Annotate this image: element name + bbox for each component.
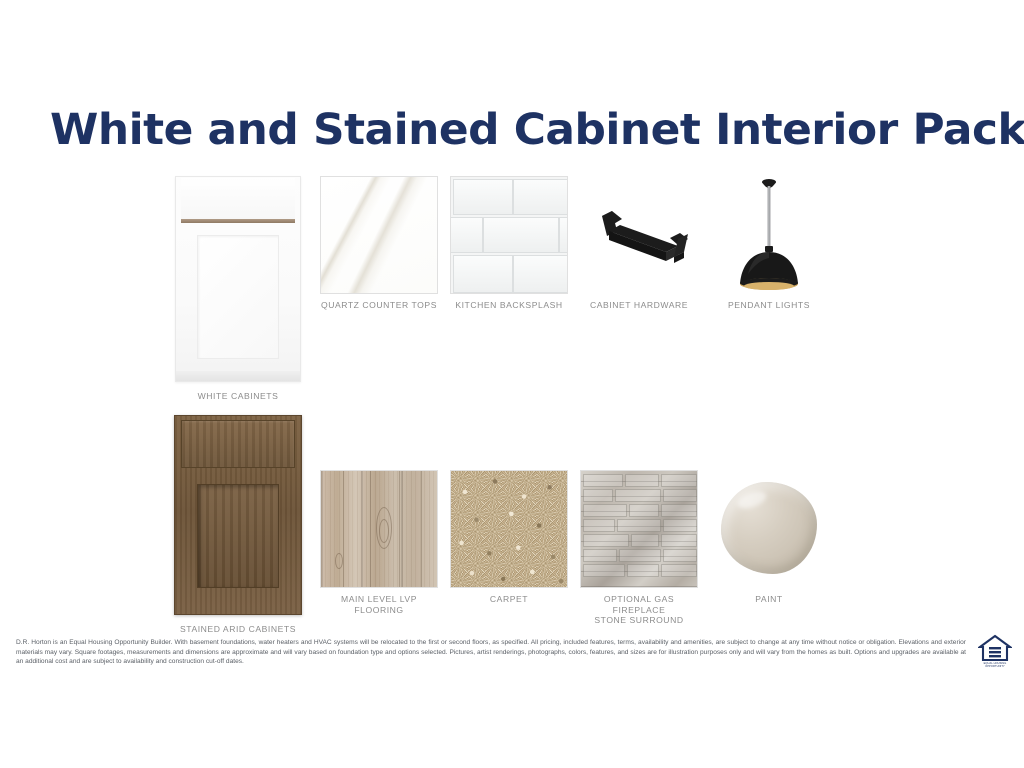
cabinet-base xyxy=(176,371,300,381)
cabinet-hardware-swatch xyxy=(580,176,698,294)
white-cabinets-label: WHITE CABINETS xyxy=(170,391,306,402)
page-title: White and Stained Cabinet Interior Packa… xyxy=(50,104,988,156)
swatch-cell-main-level-lvp-flooring: MAIN LEVEL LVP FLOORING xyxy=(320,470,438,615)
swatch-cell-paint: PAINT xyxy=(710,470,828,605)
main-level-lvp-flooring-swatch xyxy=(320,470,438,588)
swatch-cell-cabinet-hardware: CABINET HARDWARE xyxy=(580,176,698,311)
equal-housing-house-icon xyxy=(978,634,1012,662)
stained-cabinet-recessed-panel xyxy=(197,484,279,588)
paint-blob-icon xyxy=(721,482,817,574)
swatch-cell-stone-surround: OPTIONAL GAS FIREPLACE STONE SURROUND xyxy=(580,470,698,626)
swatch-cell-carpet: CARPET xyxy=(450,470,568,605)
carpet-swatch xyxy=(450,470,568,588)
cabinet-top-rail xyxy=(181,178,295,219)
cabinet-drawer-pull-line xyxy=(181,219,295,223)
paint-swatch xyxy=(710,470,828,588)
legal-disclaimer: D.R. Horton is an Equal Housing Opportun… xyxy=(16,638,966,667)
stone-surround-label-line1: OPTIONAL GAS FIREPLACE xyxy=(580,594,698,615)
quartz-counter-tops-label: QUARTZ COUNTER TOPS xyxy=(320,300,438,311)
stained-cabinet-swatch xyxy=(174,415,302,615)
pendant-light-icon xyxy=(710,176,828,294)
cabinet-hardware-label: CABINET HARDWARE xyxy=(580,300,698,311)
swatch-cell-kitchen-backsplash: KITCHEN BACKSPLASH xyxy=(450,176,568,311)
equal-housing-opportunity-logo: EQUAL HOUSING OPPORTUNITY xyxy=(978,634,1012,670)
stained-arid-cabinets-label: STAINED ARID CABINETS xyxy=(170,624,306,635)
quartz-counter-tops-swatch xyxy=(320,176,438,294)
stained-cabinet-drawer xyxy=(181,420,295,468)
stone-surround-label-line2: STONE SURROUND xyxy=(580,615,698,626)
bar-pull-icon xyxy=(580,176,698,294)
main-level-lvp-flooring-label: MAIN LEVEL LVP FLOORING xyxy=(320,594,438,615)
swatch-cell-pendant-lights: PENDANT LIGHTS xyxy=(710,176,828,311)
optional-gas-fireplace-stone-surround-swatch xyxy=(580,470,698,588)
pendant-lights-swatch xyxy=(710,176,828,294)
paint-label: PAINT xyxy=(710,594,828,605)
carpet-label: CARPET xyxy=(450,594,568,605)
selection-row-2: MAIN LEVEL LVP FLOORING CARPET xyxy=(320,470,830,620)
eho-logo-text-line2: OPPORTUNITY xyxy=(978,665,1012,668)
swatch-cell-quartz-counter-tops: QUARTZ COUNTER TOPS xyxy=(320,176,438,311)
interior-package-flyer: White and Stained Cabinet Interior Packa… xyxy=(0,0,1024,768)
kitchen-backsplash-swatch xyxy=(450,176,568,294)
white-cabinet-swatch xyxy=(175,176,301,382)
kitchen-backsplash-label: KITCHEN BACKSPLASH xyxy=(450,300,568,311)
cabinet-recessed-panel xyxy=(197,235,279,359)
selection-grid: QUARTZ COUNTER TOPS KITCHEN BACKSPLASH xyxy=(320,176,830,626)
pendant-lights-label: PENDANT LIGHTS xyxy=(710,300,828,311)
selection-row-1: QUARTZ COUNTER TOPS KITCHEN BACKSPLASH xyxy=(320,176,830,326)
cabinet-column: WHITE CABINETS STAINED ARID CABINETS xyxy=(170,176,306,634)
